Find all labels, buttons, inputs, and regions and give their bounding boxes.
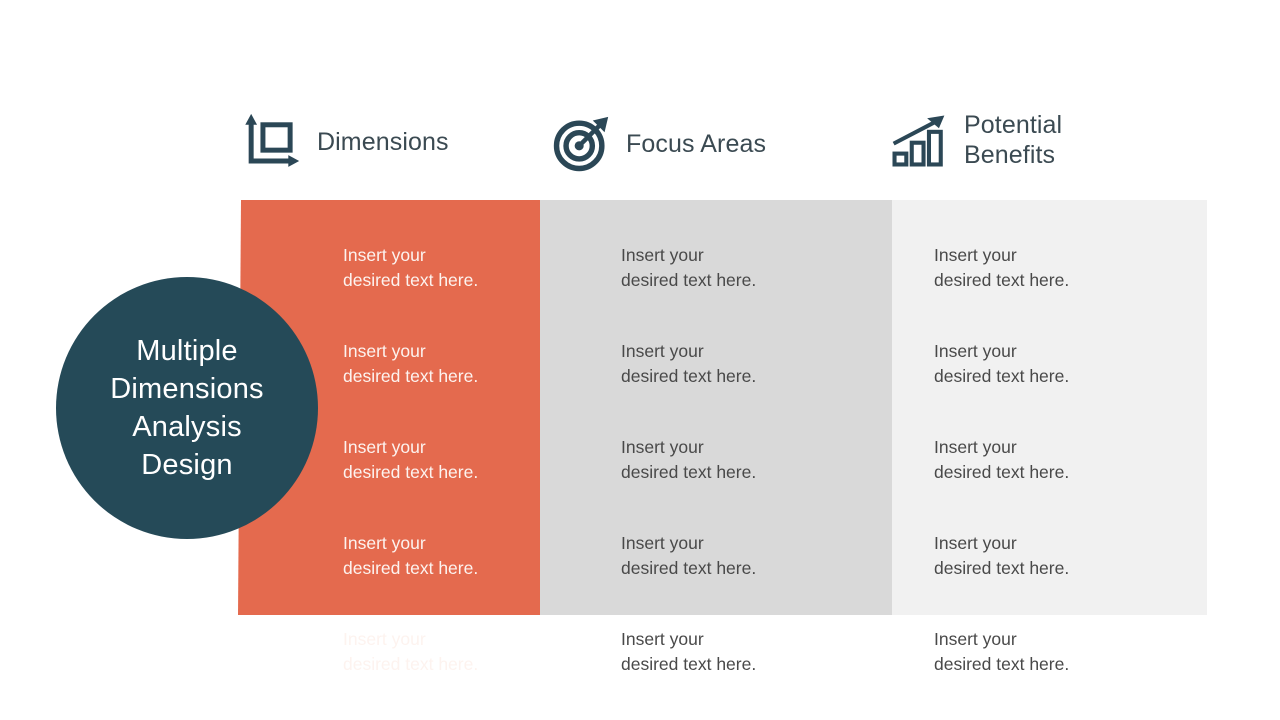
list-item[interactable]: Insert your desired text here. (621, 339, 821, 389)
list-item[interactable]: Insert your desired text here. (934, 435, 1134, 485)
growth-bar-chart-icon (890, 111, 948, 169)
header-label-focus-areas: Focus Areas (626, 129, 766, 159)
list-item[interactable]: Insert your desired text here. (343, 435, 528, 485)
list-item[interactable]: Insert your desired text here. (343, 531, 528, 581)
list-item[interactable]: Insert your desired text here. (934, 243, 1134, 293)
dimensions-column: Insert your desired text here. Insert yo… (343, 243, 528, 677)
list-item[interactable]: Insert your desired text here. (621, 627, 821, 677)
central-circle-label: Multiple Dimensions Analysis Design (110, 332, 264, 484)
list-item[interactable]: Insert your desired text here. (621, 435, 821, 485)
potential-benefits-column: Insert your desired text here. Insert yo… (934, 243, 1134, 677)
list-item[interactable]: Insert your desired text here. (934, 531, 1134, 581)
list-item[interactable]: Insert your desired text here. (343, 243, 528, 293)
header-potential-benefits[interactable]: Potential Benefits (890, 110, 1062, 170)
list-item[interactable]: Insert your desired text here. (621, 531, 821, 581)
focus-areas-column: Insert your desired text here. Insert yo… (621, 243, 821, 677)
list-item[interactable]: Insert your desired text here. (934, 339, 1134, 389)
header-row: Dimensions Focus Areas (0, 0, 1280, 200)
list-item[interactable]: Insert your desired text here. (343, 339, 528, 389)
header-label-dimensions: Dimensions (317, 127, 449, 157)
axis-arrow-right (288, 155, 299, 167)
list-item[interactable]: Insert your desired text here. (934, 627, 1134, 677)
target-arrow-icon (552, 115, 610, 173)
axis-arrow-up (245, 114, 257, 125)
header-dimensions[interactable]: Dimensions (243, 113, 449, 171)
central-circle[interactable]: Multiple Dimensions Analysis Design (56, 277, 318, 539)
slide-canvas: Dimensions Focus Areas (0, 0, 1280, 720)
axes-square-icon (243, 113, 301, 171)
header-label-potential-benefits: Potential Benefits (964, 110, 1062, 170)
list-item[interactable]: Insert your desired text here. (621, 243, 821, 293)
header-focus-areas[interactable]: Focus Areas (552, 115, 766, 173)
list-item[interactable]: Insert your desired text here. (343, 627, 528, 677)
